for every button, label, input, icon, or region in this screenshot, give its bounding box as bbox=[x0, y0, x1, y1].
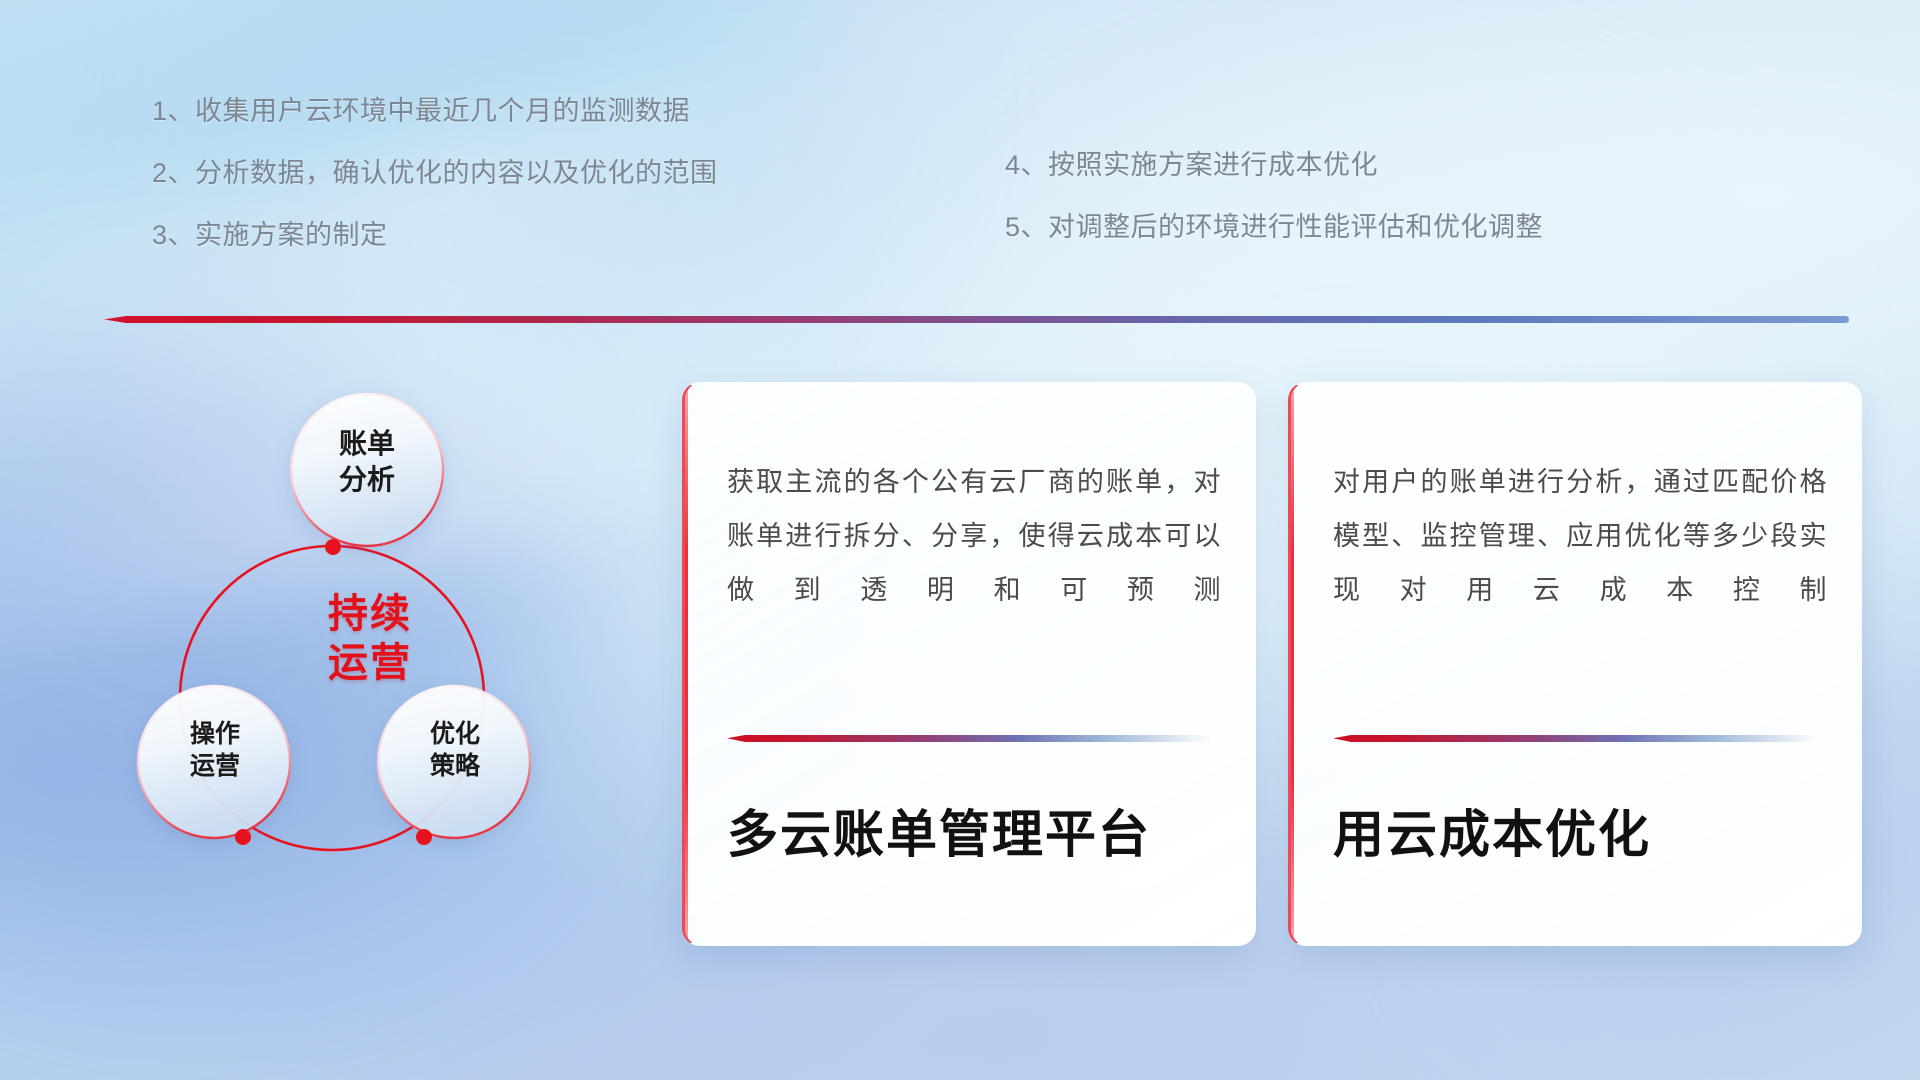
bubble-label-line2: 策略 bbox=[380, 750, 530, 782]
card-divider bbox=[1333, 735, 1818, 742]
process-steps-section: 1、收集用户云环境中最近几个月的监测数据 2、分析数据，确认优化的内容以及优化的… bbox=[0, 0, 1920, 250]
card-title: 多云账单管理平台 bbox=[727, 793, 1225, 867]
process-step-3: 3、实施方案的制定 bbox=[152, 222, 718, 249]
diagram-center-label: 持续 运营 bbox=[275, 590, 465, 688]
process-steps-right-column: 4、按照实施方案进行成本优化 5、对调整后的环境进行性能评估和优化调整 bbox=[1005, 152, 1543, 276]
process-step-1: 1、收集用户云环境中最近几个月的监测数据 bbox=[152, 98, 718, 125]
connector-dot-bottom-left bbox=[235, 829, 251, 845]
diagram-center-label-line2: 运营 bbox=[275, 639, 465, 688]
section-divider bbox=[104, 316, 1849, 323]
process-steps-left-column: 1、收集用户云环境中最近几个月的监测数据 2、分析数据，确认优化的内容以及优化的… bbox=[152, 98, 718, 284]
bubble-label-line2: 运营 bbox=[140, 750, 290, 782]
bubble-label-billing-analysis: 账单 分析 bbox=[292, 426, 442, 498]
bubble-label-line1: 操作 bbox=[140, 718, 290, 750]
card-description: 获取主流的各个公有云厂商的账单，对账单进行拆分、分享，使得云成本可以做到透明和可… bbox=[727, 455, 1221, 617]
bubble-label-line1: 优化 bbox=[380, 718, 530, 750]
card-divider bbox=[727, 735, 1212, 742]
card-cloud-cost-optimization[interactable]: 对用户的账单进行分析，通过匹配价格模型、监控管理、应用优化等多少段实现对用云成本… bbox=[1288, 382, 1862, 946]
card-description: 对用户的账单进行分析，通过匹配价格模型、监控管理、应用优化等多少段实现对用云成本… bbox=[1333, 455, 1827, 617]
process-step-5: 5、对调整后的环境进行性能评估和优化调整 bbox=[1005, 214, 1543, 241]
diagram-center-label-line1: 持续 bbox=[275, 590, 465, 639]
card-title: 用云成本优化 bbox=[1333, 793, 1831, 867]
card-multi-cloud-billing-platform[interactable]: 获取主流的各个公有云厂商的账单，对账单进行拆分、分享，使得云成本可以做到透明和可… bbox=[682, 382, 1256, 946]
bubble-label-line1: 账单 bbox=[292, 426, 442, 462]
bubble-label-line2: 分析 bbox=[292, 462, 442, 498]
process-step-2: 2、分析数据，确认优化的内容以及优化的范围 bbox=[152, 160, 718, 187]
bubble-label-operations: 操作 运营 bbox=[140, 718, 290, 782]
continuous-operations-diagram: 账单 分析 操作 运营 优化 策略 持续 运营 bbox=[100, 350, 570, 950]
process-step-4: 4、按照实施方案进行成本优化 bbox=[1005, 152, 1543, 179]
connector-dot-top bbox=[325, 539, 341, 555]
connector-dot-bottom-right bbox=[416, 829, 432, 845]
bubble-label-optimization-strategy: 优化 策略 bbox=[380, 718, 530, 782]
